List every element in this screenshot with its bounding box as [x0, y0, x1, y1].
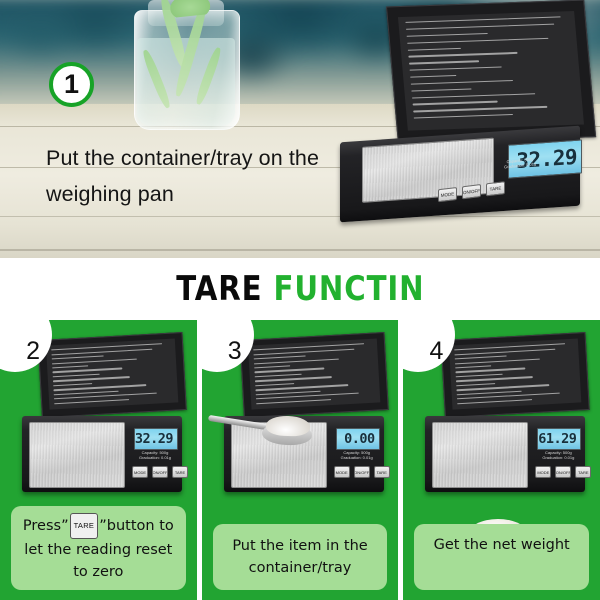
glass-jar-with-plant — [130, 0, 242, 132]
step-badge-1-number: 1 — [64, 71, 79, 98]
scale-lid-instruction-text — [248, 339, 380, 410]
graduation-line: Graduation: 0.01g — [334, 455, 380, 460]
on-off-button[interactable]: ON/OFF — [462, 184, 481, 199]
tare-button-chip: TARE — [70, 513, 99, 539]
pocket-scale-step2: 32.29 Capacity: 500g Graduation: 0.01g M… — [20, 340, 185, 490]
tare-button[interactable]: TARE — [486, 181, 505, 196]
weighing-pan — [231, 422, 327, 488]
step-panel-2: 32.29 Capacity: 500g Graduation: 0.01g M… — [0, 320, 197, 600]
graduation-line: Graduation: 0.01g — [535, 455, 581, 460]
page-title: TARE FUNCTIN — [176, 269, 424, 309]
step-badge-1: 1 — [49, 62, 94, 107]
scale-lid-with-instructions — [38, 332, 187, 418]
lcd-weight-value: 32.29 — [135, 431, 177, 447]
scale-lid-instruction-text — [398, 10, 584, 130]
scale-base: 32.29 Capacity: 500g Graduation: 0.01g M… — [22, 416, 182, 492]
mode-button[interactable]: MODE — [535, 466, 551, 478]
step-caption-3: Put the item in the container/tray — [213, 524, 388, 590]
steps-panel-row: 32.29 Capacity: 500g Graduation: 0.01g M… — [0, 320, 600, 600]
scale-base: 0.00 Capacity: 500g Graduation: 0.01g MO… — [224, 416, 384, 492]
tare-button[interactable]: TARE — [575, 466, 591, 478]
tare-button[interactable]: TARE — [172, 466, 188, 478]
scale-button-row: MODE ON/OFF TARE — [132, 466, 188, 478]
scale-lid-with-instructions — [239, 332, 388, 418]
lcd-weight-value: 0.00 — [344, 431, 379, 447]
lcd-capacity-label: Capacity: 500g Graduation: 0.01g — [132, 450, 178, 460]
lcd-weight-value: 61.29 — [538, 431, 580, 447]
scale-lid-with-instructions — [441, 332, 590, 418]
caption-prefix: Press” — [23, 518, 69, 534]
lcd-display: 61.29 — [537, 428, 581, 450]
title-word-tare: TARE — [176, 269, 262, 309]
tare-button[interactable]: TARE — [374, 466, 390, 478]
scale-base: 32.29 Capacity: 500g Graduation: 0.01g M… — [340, 126, 580, 223]
mode-button[interactable]: MODE — [132, 466, 148, 478]
scale-lid-instruction-text — [46, 339, 178, 410]
scale-button-row: MODE ON/OFF TARE — [334, 466, 390, 478]
scale-lid-instruction-text — [449, 339, 581, 410]
scale-lid-with-instructions — [386, 0, 596, 144]
pocket-scale-hero: 32.29 Capacity: 500g Graduation: 0.01g M… — [330, 6, 596, 238]
step-caption-2: Press”TARE”button to let the reading res… — [11, 506, 186, 590]
mode-button[interactable]: MODE — [334, 466, 350, 478]
step-badge-4-number: 4 — [429, 339, 443, 364]
step-badge-2-number: 2 — [26, 339, 40, 364]
graduation-line: Graduation: 0.01g — [132, 455, 178, 460]
step-caption-4: Get the net weight — [414, 524, 589, 590]
scale-button-row: MODE ON/OFF TARE — [535, 466, 591, 478]
lcd-capacity-label: Capacity: 500g Graduation: 0.01g — [334, 450, 380, 460]
hero-caption: Put the container/tray on the weighing p… — [46, 140, 376, 212]
scale-base: 61.29 Capacity: 500g Graduation: 0.01g M… — [425, 416, 585, 492]
pocket-scale-step4: 61.29 Capacity: 500g Graduation: 0.01g M… — [423, 340, 588, 490]
infographic-page: 1 Put the container/tray on the weighing… — [0, 0, 600, 600]
mode-button[interactable]: MODE — [438, 187, 457, 202]
weighing-pan — [29, 422, 125, 488]
step-badge-3-number: 3 — [228, 339, 242, 364]
lcd-display: 32.29 — [134, 428, 178, 450]
pocket-scale-step3: 0.00 Capacity: 500g Graduation: 0.01g MO… — [222, 340, 387, 490]
on-off-button[interactable]: ON/OFF — [555, 466, 571, 478]
lcd-display: 0.00 — [336, 428, 380, 450]
title-band: TARE FUNCTIN — [0, 258, 600, 320]
table-plank-line — [0, 249, 600, 251]
step-panel-3: 0.00 Capacity: 500g Graduation: 0.01g MO… — [202, 320, 399, 600]
on-off-button[interactable]: ON/OFF — [152, 466, 168, 478]
step-panel-4: 61.29 Capacity: 500g Graduation: 0.01g M… — [403, 320, 600, 600]
weighing-pan — [432, 422, 528, 488]
title-word-functin: FUNCTIN — [273, 269, 424, 309]
on-off-button[interactable]: ON/OFF — [354, 466, 370, 478]
lcd-capacity-label: Capacity: 500g Graduation: 0.01g — [535, 450, 581, 460]
hero-scene: 1 Put the container/tray on the weighing… — [0, 0, 600, 258]
